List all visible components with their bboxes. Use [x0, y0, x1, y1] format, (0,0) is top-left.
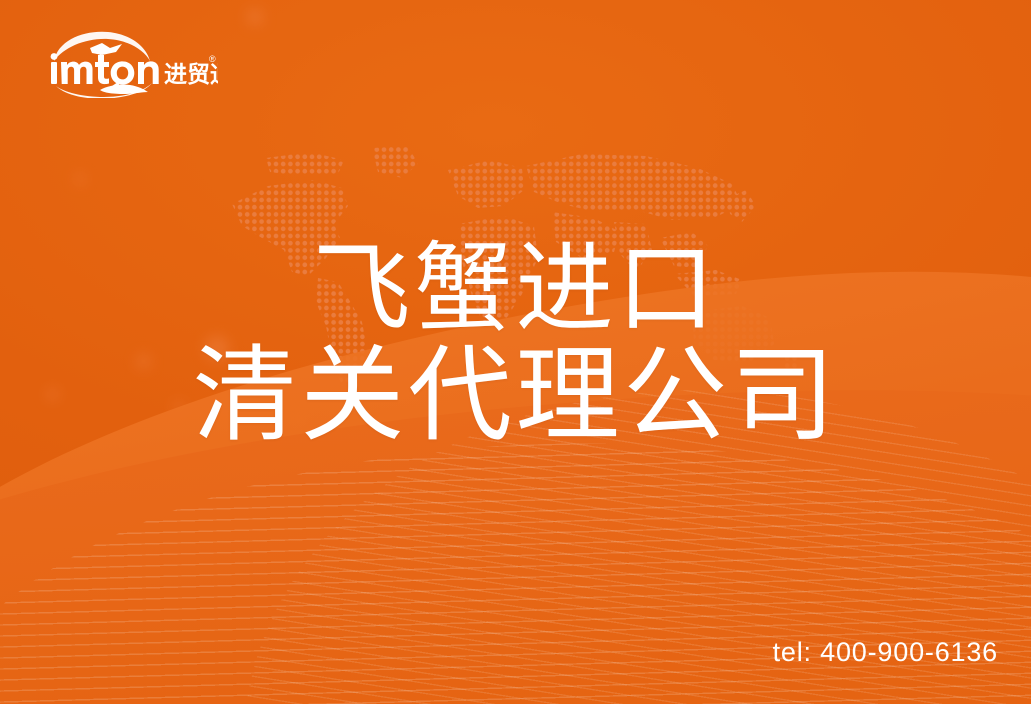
bokeh-dot [247, 9, 263, 25]
svg-text:进贸通: 进贸通 [164, 62, 218, 88]
bokeh-dot [47, 389, 58, 400]
svg-text:®: ® [209, 54, 216, 64]
promotional-banner: 进贸通 ® 飞蟹进口 清关代理公司 tel: 400-900-6136 [0, 0, 1031, 704]
bokeh-dot [75, 174, 85, 184]
company-logo[interactable]: 进贸通 ® [38, 28, 218, 98]
contact-phone[interactable]: tel: 400-900-6136 [773, 637, 998, 668]
bokeh-dot [137, 355, 150, 368]
